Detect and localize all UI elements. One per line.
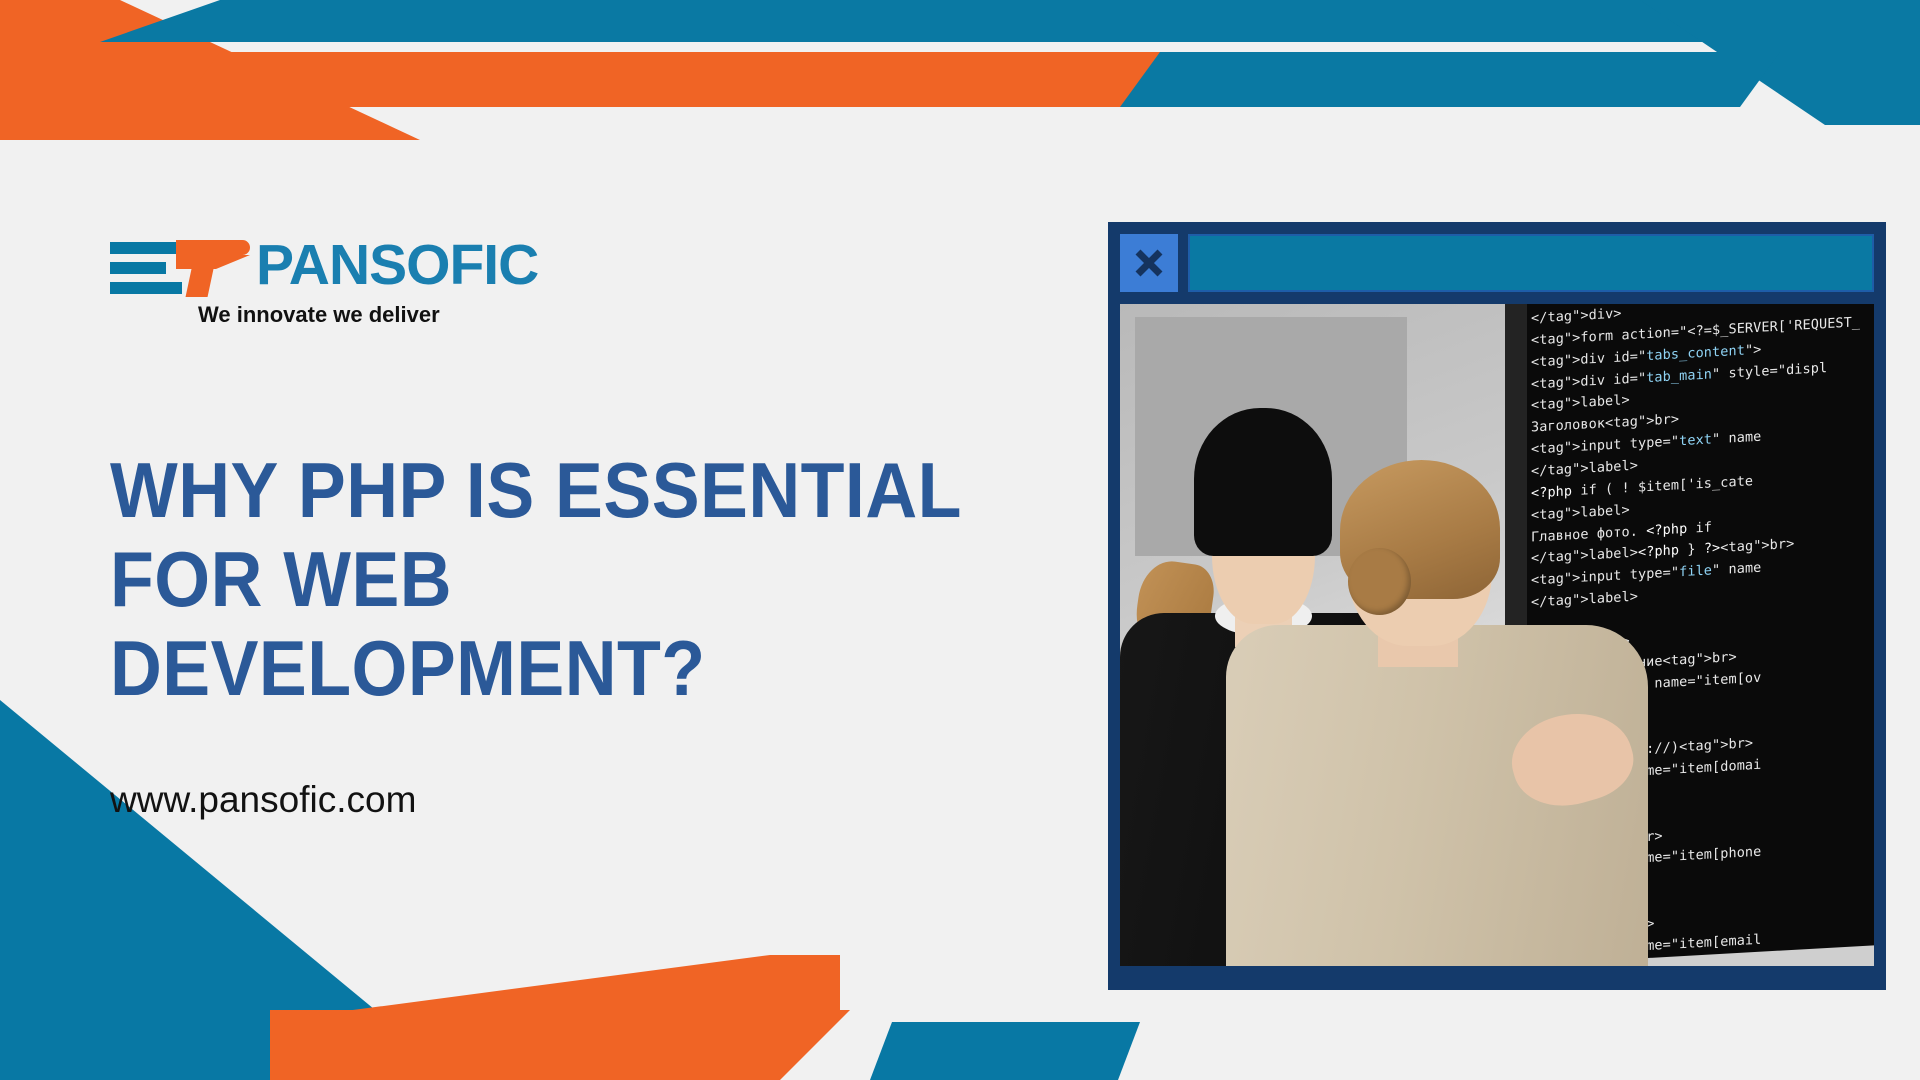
website-url: www.pansofic.com — [110, 779, 1070, 821]
decorative-orange-band — [180, 52, 1180, 107]
logo-bars-icon — [110, 242, 182, 294]
logo-row: PANSOFIC — [110, 236, 1070, 296]
logo-wordmark: PANSOFIC — [256, 236, 538, 294]
photo-person-jacket-bun — [1348, 548, 1411, 615]
image-window-frame: </tag">div><tag">form action="<?=$_SERVE… — [1108, 222, 1886, 990]
logo-tagline: We innovate we deliver — [198, 302, 1070, 328]
decorative-blue-parallelogram — [870, 1022, 1140, 1080]
content-column: PANSOFIC We innovate we deliver WHY PHP … — [110, 236, 1070, 821]
decorative-orange-band-bottom-upper — [300, 955, 840, 1017]
decorative-blue-band — [100, 0, 1800, 42]
developers-photo: </tag">div><tag">form action="<?=$_SERVE… — [1120, 304, 1874, 966]
close-x-icon[interactable] — [1120, 234, 1178, 292]
logo-bar-mid — [110, 262, 166, 274]
poster-canvas: PANSOFIC We innovate we deliver WHY PHP … — [0, 0, 1920, 1080]
logo: PANSOFIC We innovate we deliver — [110, 236, 1070, 328]
logo-p-mark-icon — [176, 236, 254, 296]
decorative-orange-band-bottom — [270, 1010, 850, 1080]
page-title: WHY PHP IS ESSENTIAL FOR WEB DEVELOPMENT… — [110, 446, 993, 713]
logo-bar-top — [110, 242, 182, 254]
logo-bar-bottom — [110, 282, 182, 294]
decorative-blue-band-right — [1120, 52, 1780, 107]
window-content: </tag">div><tag">form action="<?=$_SERVE… — [1120, 304, 1874, 966]
window-titlebar — [1120, 234, 1874, 292]
photo-person-jacket — [1226, 450, 1648, 966]
window-title — [1188, 234, 1874, 292]
logo-p-top — [176, 240, 250, 255]
